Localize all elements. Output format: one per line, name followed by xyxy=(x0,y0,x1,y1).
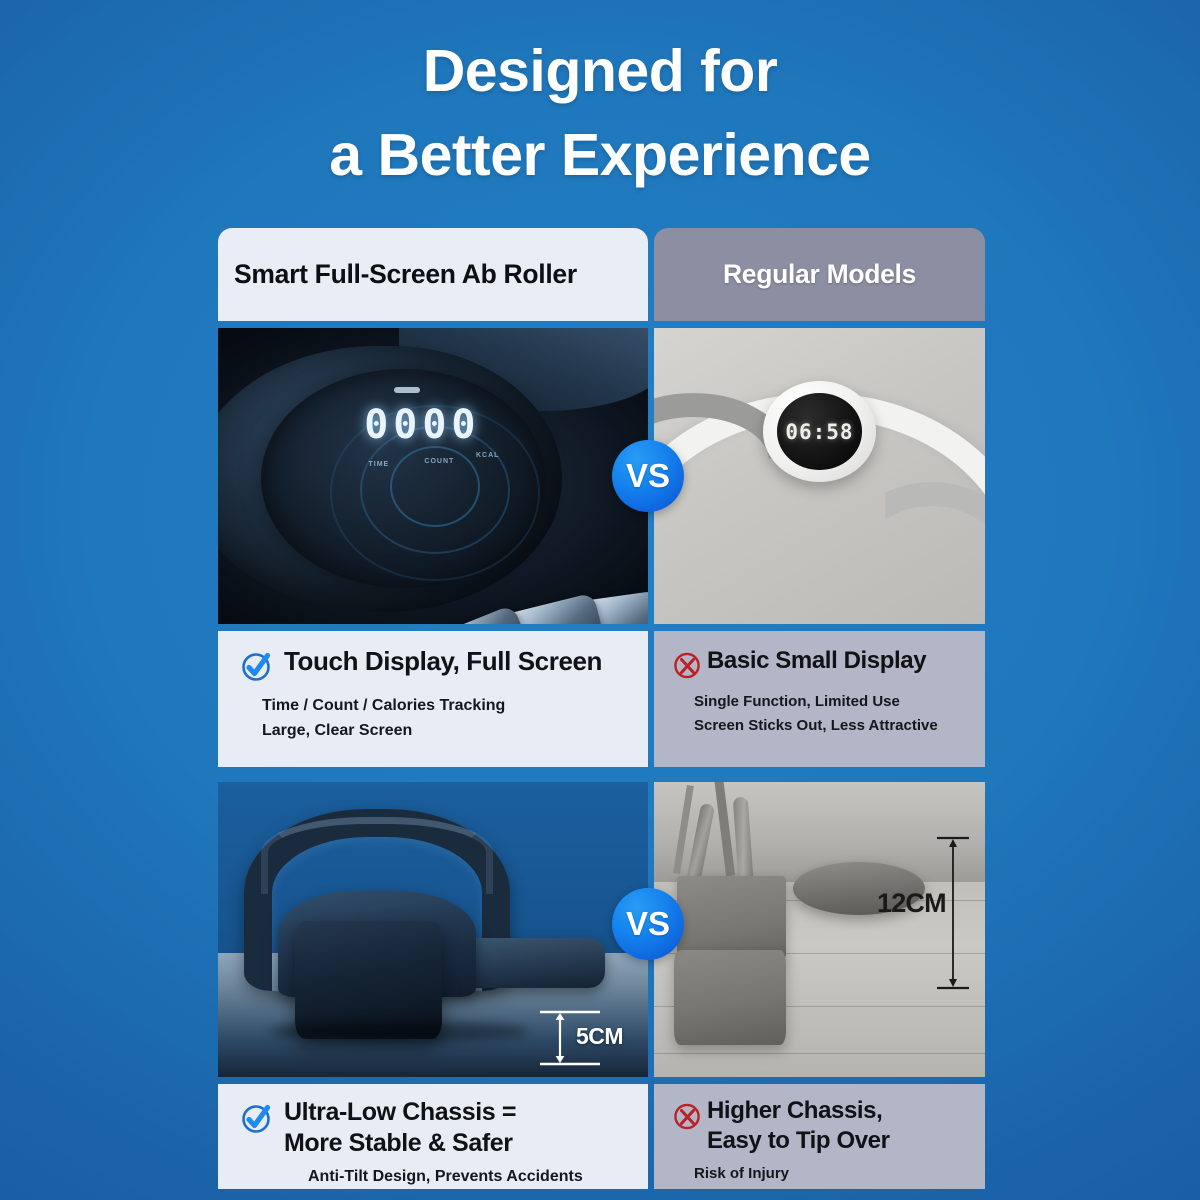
caption-high-chassis: Higher Chassis, Easy to Tip Over Risk of… xyxy=(654,1084,985,1189)
display-label-time: TIME xyxy=(369,461,390,468)
caption-sub-1: Anti-Tilt Design, Prevents Accidents xyxy=(308,1166,630,1188)
display-label-count: COUNT xyxy=(424,458,454,465)
header-regular-model-label: Regular Models xyxy=(723,259,916,290)
roller-housing-block xyxy=(677,876,786,959)
caption-regular-display: Basic Small Display Single Function, Lim… xyxy=(654,631,985,767)
arm-segment-1 xyxy=(414,604,529,624)
caption-head: Touch Display, Full Screen xyxy=(240,647,630,683)
floor-plank-line xyxy=(654,1053,985,1054)
spacer xyxy=(218,321,648,328)
caption-head: Ultra-Low Chassis = More Stable & Safer xyxy=(240,1098,630,1157)
header-regular-model: Regular Models xyxy=(654,228,985,321)
title-line-2: a Better Experience xyxy=(0,114,1200,198)
comparison-grid: Smart Full-Screen Ab Roller 0000 TIME CO… xyxy=(218,228,985,1183)
caption-smart-display: Touch Display, Full Screen Time / Count … xyxy=(218,631,648,767)
display-pod: 06:58 xyxy=(763,381,876,482)
display-screen: 06:58 xyxy=(777,393,863,469)
caption-low-chassis: Ultra-Low Chassis = More Stable & Safer … xyxy=(218,1084,648,1189)
spacer xyxy=(654,624,985,631)
speaker-slot xyxy=(394,387,420,393)
header-smart-model: Smart Full-Screen Ab Roller xyxy=(218,228,648,321)
column-regular-model: Regular Models 06:58 xyxy=(654,228,985,1189)
digital-readout: 0000 xyxy=(364,402,480,448)
cross-circle-icon xyxy=(672,650,703,681)
image-high-chassis: 12CM xyxy=(654,782,985,1077)
display-label-kcal: KCAL xyxy=(476,452,499,459)
roller-wheel xyxy=(674,950,787,1044)
caption-sub-2: Large, Clear Screen xyxy=(262,720,630,742)
display-clock-value: 06:58 xyxy=(785,420,853,444)
vs-badge-label: VS xyxy=(626,457,670,495)
image-regular-small-display: 06:58 xyxy=(654,328,985,624)
measurement-12cm: 12CM xyxy=(877,832,973,994)
caption-sub-1: Single Function, Limited Use xyxy=(694,692,973,713)
product-comparison-page: Designed for a Better Experience Smart F… xyxy=(0,0,1200,1200)
artwork-regular-roller: 06:58 xyxy=(654,328,985,624)
caption-sub-1: Risk of Injury xyxy=(694,1164,973,1185)
page-title: Designed for a Better Experience xyxy=(0,30,1200,198)
caption-title: Basic Small Display xyxy=(707,648,926,675)
caption-sub-2: Screen Sticks Out, Less Attractive xyxy=(694,716,973,737)
cross-circle-icon xyxy=(672,1101,703,1132)
check-circle-icon xyxy=(240,649,274,683)
caption-title-line-1: Higher Chassis, xyxy=(707,1098,890,1125)
row-gap xyxy=(654,767,985,782)
caption-title-line-1: Ultra-Low Chassis = xyxy=(284,1098,516,1126)
roller-shadow xyxy=(270,1021,528,1042)
spacer xyxy=(654,321,985,328)
caption-title: Touch Display, Full Screen xyxy=(284,647,602,676)
caption-sub-1: Time / Count / Calories Tracking xyxy=(262,695,630,717)
artwork-smart-roller: 0000 TIME COUNT KCAL xyxy=(218,328,648,624)
spacer xyxy=(218,1077,648,1084)
header-smart-model-label: Smart Full-Screen Ab Roller xyxy=(234,259,577,290)
check-circle-icon xyxy=(240,1101,274,1135)
measurement-5cm: 5CM xyxy=(534,1006,638,1070)
spacer xyxy=(654,1077,985,1084)
measurement-label-12cm: 12CM xyxy=(877,888,946,919)
caption-title-line-2: More Stable & Safer xyxy=(284,1129,516,1157)
spacer xyxy=(218,624,648,631)
title-line-1: Designed for xyxy=(423,38,778,104)
caption-head: Higher Chassis, Easy to Tip Over xyxy=(672,1098,973,1155)
image-low-chassis: 5CM xyxy=(218,782,648,1077)
vs-badge-label: VS xyxy=(626,905,670,943)
measurement-label-5cm: 5CM xyxy=(576,1023,623,1050)
caption-head: Basic Small Display xyxy=(672,648,973,681)
vs-badge-row-2: VS xyxy=(612,888,684,960)
vs-badge-row-1: VS xyxy=(612,440,684,512)
image-smart-touch-display: 0000 TIME COUNT KCAL xyxy=(218,328,648,624)
caption-title-line-2: Easy to Tip Over xyxy=(707,1128,890,1155)
row-gap xyxy=(218,767,648,782)
handle-highlight xyxy=(261,817,493,894)
column-smart-model: Smart Full-Screen Ab Roller 0000 TIME CO… xyxy=(218,228,648,1189)
